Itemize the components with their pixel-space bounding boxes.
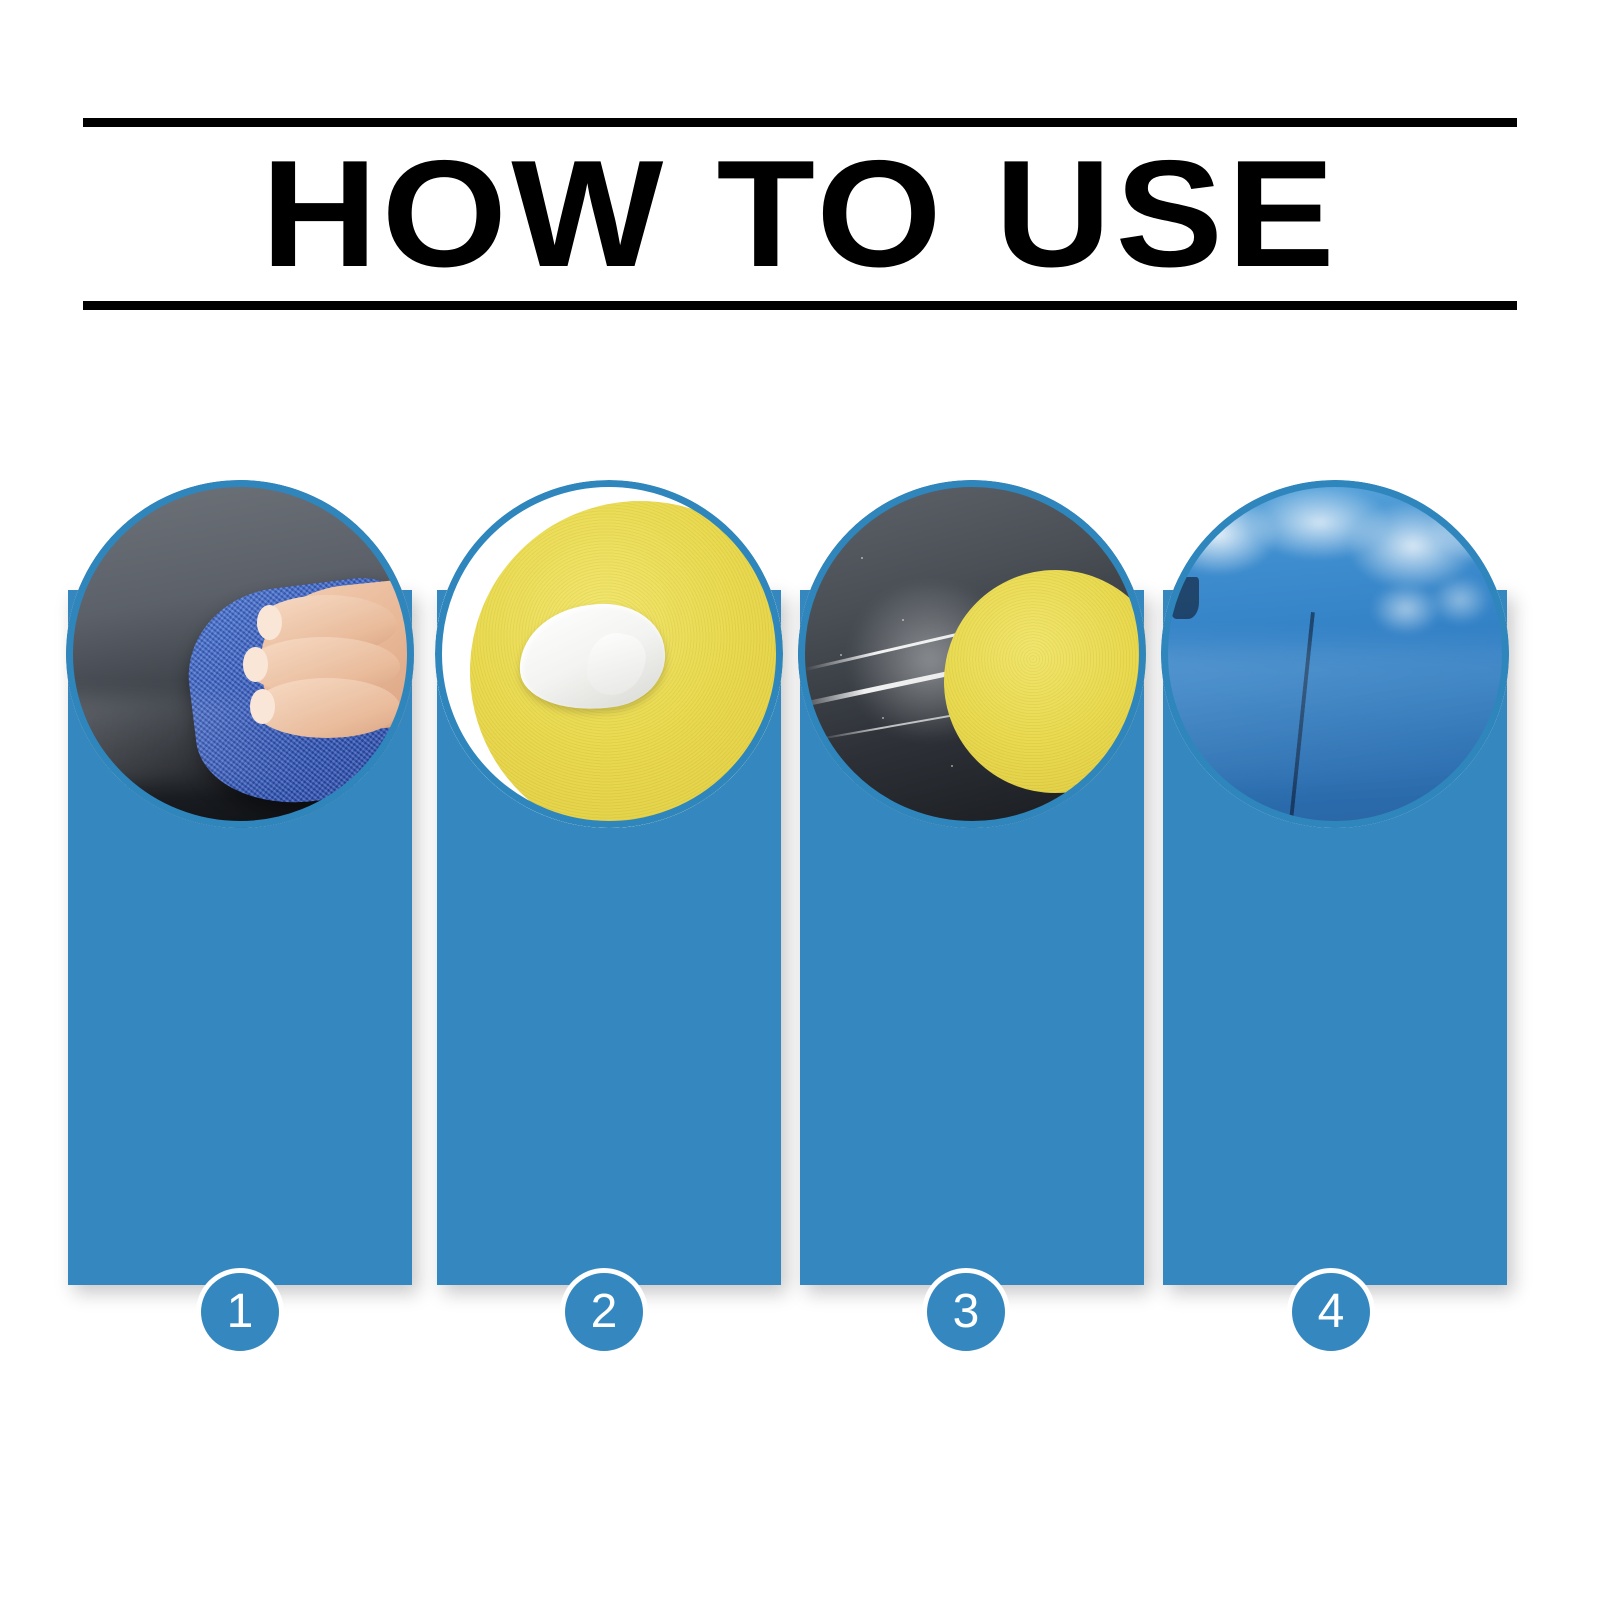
fingernail-2 [243,647,267,682]
yellow-foam-pad [944,570,1146,793]
microfiber-cloth-photo [66,480,414,828]
step-number-badge-4: 4 [1287,1268,1375,1356]
step-caption-2: Apply product to foam pad evenly. [457,1420,761,1522]
paint-sheen [1161,647,1509,786]
page-header: HOW TO USE [83,118,1517,310]
step-caption-1: Clean surface with microfiber cloth. [88,1420,392,1624]
step-image-3-inner [798,480,1146,828]
glossy-hood-photo [1161,480,1509,828]
surface-gloss [66,696,310,786]
header-rule-top [83,118,1517,127]
step-number-badge-3: 3 [922,1268,1010,1356]
page-title: HOW TO USE [40,127,1560,301]
step-image-2 [435,480,783,828]
step-image-4-inner [1161,480,1509,828]
step-number-badge-2: 2 [560,1268,648,1356]
fingernail-1 [257,605,281,640]
step-image-1 [66,480,414,828]
step-number-badge-1: 1 [196,1268,284,1356]
dust-speck [840,654,842,656]
dust-speck [861,557,863,559]
step-caption-4: Buff residue with dry cloth for shine. [1183,1420,1487,1573]
step-image-3 [798,480,1146,828]
step-image-2-inner [435,480,783,828]
dust-speck [882,717,884,719]
cloud-reflection-right [1342,564,1502,654]
steps-container: 1 2 3 4 Clean surface with microfiber cl… [0,480,1600,1300]
dust-speck [951,765,953,767]
scratched-surface-photo [798,480,1146,828]
step-caption-3: Polish affected area with moderate press… [820,1420,1124,1624]
foam-pad-photo [435,480,783,828]
header-rule-bottom [83,301,1517,310]
step-image-4 [1161,480,1509,828]
step-image-1-inner [66,480,414,828]
